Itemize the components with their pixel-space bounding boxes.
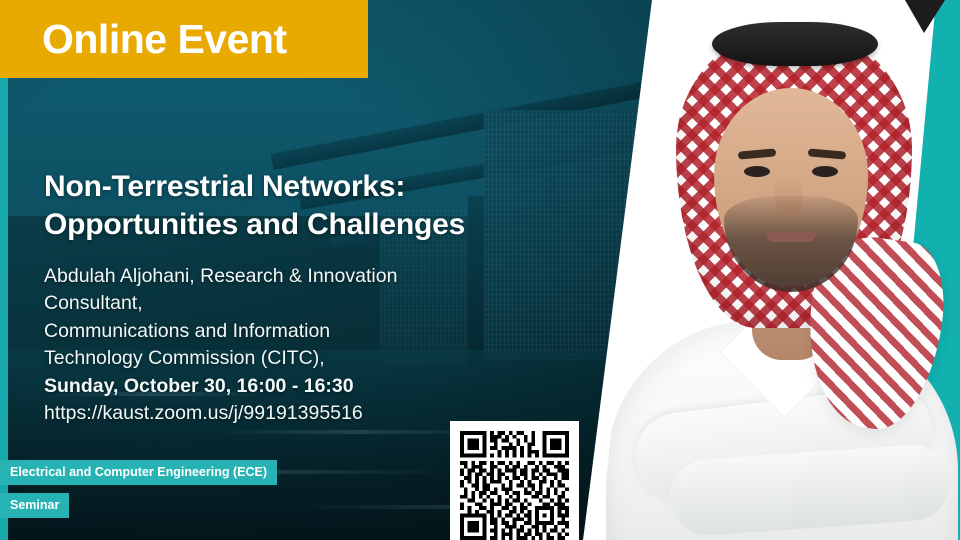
title-line-1: Non-Terrestrial Networks: xyxy=(44,170,405,203)
content-block: Non-Terrestrial Networks: Opportunities … xyxy=(44,168,584,428)
detail-line: Technology Commission (CITC), xyxy=(44,345,584,372)
ribbon-label: Online Event xyxy=(0,19,287,60)
speaker-photo xyxy=(600,0,960,540)
portrait-mouth xyxy=(765,232,817,242)
detail-line: Communications and Information xyxy=(44,318,584,345)
portrait-igal xyxy=(712,22,878,66)
event-poster: Online Event Non-Terrestrial Networks: O… xyxy=(0,0,960,540)
badge-row: Seminar xyxy=(0,493,277,518)
event-details: Abdulah Aljohani, Research & Innovation … xyxy=(44,263,584,428)
title-line-2: Opportunities and Challenges xyxy=(44,208,465,241)
badge-event-type[interactable]: Seminar xyxy=(0,493,69,518)
badge-row: Electrical and Computer Engineering (ECE… xyxy=(0,460,277,485)
portrait-nose xyxy=(775,178,803,218)
badge-department[interactable]: Electrical and Computer Engineering (ECE… xyxy=(0,460,277,485)
detail-line: Abdulah Aljohani, Research & Innovation xyxy=(44,263,584,290)
online-event-ribbon: Online Event xyxy=(0,0,368,78)
qr-code-glyph xyxy=(460,431,569,540)
qr-code[interactable] xyxy=(450,421,579,540)
datetime-line: Sunday, October 30, 16:00 - 16:30 xyxy=(44,373,584,400)
category-badges: Electrical and Computer Engineering (ECE… xyxy=(0,460,277,518)
detail-line: Consultant, xyxy=(44,290,584,317)
page-title: Non-Terrestrial Networks: Opportunities … xyxy=(44,168,584,245)
portrait-eye xyxy=(744,166,770,177)
left-accent-strip xyxy=(0,0,8,540)
portrait-eye xyxy=(812,166,838,177)
